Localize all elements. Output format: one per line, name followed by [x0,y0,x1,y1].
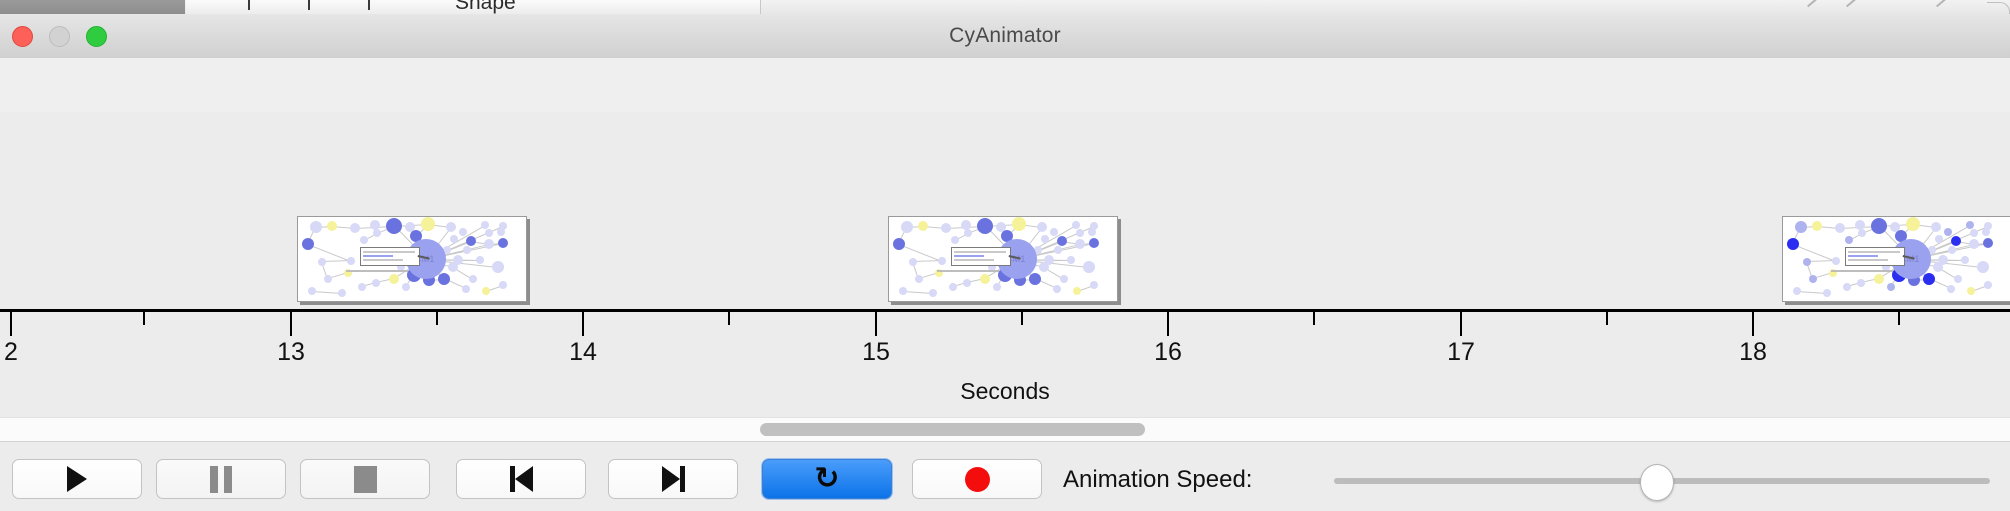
pause-icon [210,466,232,493]
graph-caption-line [937,270,999,272]
graph-node [1944,228,1952,236]
graph-node [1969,239,1979,249]
graph-node [1983,238,1993,248]
axis-tick-minor [728,312,730,325]
record-button[interactable] [912,459,1042,499]
graph-node [1951,236,1961,246]
graph-node [1858,229,1866,237]
graph-node [492,261,504,273]
graph-node [1977,261,1989,273]
graph-node [1906,217,1920,231]
graph-node [421,217,435,231]
graph-node [1054,246,1062,254]
loop-button[interactable]: ↻ [762,459,892,499]
graph-node [1835,223,1845,233]
graph-node [963,279,971,287]
graph-node [980,274,990,284]
graph-node [308,287,316,295]
axis-tick-major [875,312,877,336]
skip-forward-icon [662,466,685,492]
axis-tick-minor [1313,312,1315,325]
record-icon [965,467,990,492]
graph-node [1012,217,1026,231]
graph-node [450,235,458,243]
graph-node [302,238,314,250]
graph-node [977,218,993,234]
graph-node [1857,279,1865,287]
graph-caption-line [1831,270,1893,272]
timeline-frame-1[interactable]: MCM1 [297,216,527,302]
graph-node [1812,221,1822,231]
axis-tick-major [1460,312,1462,336]
stop-button[interactable] [300,459,430,499]
graph-node [1967,287,1975,295]
graph-node [1809,275,1817,283]
axis-tick-minor [1021,312,1023,325]
network-graph-thumbnail: MCM1 [1783,217,2010,301]
graph-node [485,229,493,237]
graph-node [1041,235,1049,243]
graph-node [1887,283,1895,291]
graph-tooltip-line [1848,251,1900,253]
graph-node [1966,221,1974,229]
graph-node [459,228,467,236]
axis-tick-label: 18 [1739,338,1767,367]
graph-tooltip-line [954,251,1006,253]
background-window-strip: Shape [0,0,2010,14]
graph-tooltip-line [954,255,984,257]
graph-node [310,221,322,233]
axis-tick-minor [1606,312,1608,325]
graph-node [1088,228,1096,236]
background-window-titlebar [0,0,185,14]
graph-node [438,273,450,285]
graph-node [899,287,907,295]
graph-node [1787,238,1799,250]
graph-node [1057,236,1067,246]
graph-node [469,275,477,283]
minimize-button[interactable] [49,26,70,47]
graph-node [1053,285,1061,293]
axis-tick-label: 16 [1154,338,1182,367]
graph-node [389,274,399,284]
graph-node [482,287,490,295]
graph-node [372,279,380,287]
graph-node [938,257,946,265]
graph-node [964,229,972,237]
skip-start-button[interactable] [456,459,586,499]
title-bar: CyAnimator [0,14,2010,59]
graph-node [373,229,381,237]
graph-node [941,223,951,233]
axis-tick-minor [143,312,145,325]
graph-node [1874,274,1884,284]
graph-node [1948,246,1956,254]
network-graph-thumbnail: MCM1 [889,217,1117,301]
graph-node [1933,262,1943,272]
graph-node [951,236,959,244]
graph-node [462,285,470,293]
play-button[interactable] [12,459,142,499]
axis-tick-label: 17 [1447,338,1475,367]
graph-node [1072,221,1080,229]
graph-node [498,238,508,248]
graph-node [1050,228,1058,236]
timeline-scrollbar[interactable] [0,417,2010,442]
graph-node [402,283,410,291]
network-graph-thumbnail: MCM1 [298,217,526,301]
timeline-axis: 2131415161718 Seconds [0,300,2010,410]
graph-node [1075,239,1085,249]
graph-node [1073,287,1081,295]
graph-node [1843,283,1851,291]
graph-node [1961,256,1969,264]
graph-tooltip-line [1848,259,1888,261]
graph-node [1060,275,1068,283]
axis-tick-minor [436,312,438,325]
graph-node [324,275,332,283]
graph-node [481,221,489,229]
axis-tick-label: 15 [862,338,890,367]
graph-node [448,262,458,272]
skip-end-button[interactable] [608,459,738,499]
axis-tick-label: 14 [569,338,597,367]
graph-node [1947,285,1955,293]
graph-node [358,283,366,291]
axis-tick-major [290,312,292,336]
graph-node [1067,256,1075,264]
scrollbar-thumb[interactable] [760,423,1145,436]
animation-speed-label: Animation Speed: [1063,466,1252,494]
frame-toolbar: Clear All Frames [0,58,2010,113]
cyanimator-window: Shape CyAnimator Clear All Frames [0,0,2010,510]
graph-node [347,257,355,265]
axis-line [0,309,2010,312]
axis-tick-label: 13 [277,338,305,367]
timeline-frame-2[interactable]: MCM1 [888,216,1118,302]
graph-node [901,221,913,233]
axis-tick-major [1752,312,1754,336]
graph-node [386,218,402,234]
graph-tooltip-line [363,255,393,257]
graph-node [918,221,928,231]
axis-tick-major [1167,312,1169,336]
axis-title: Seconds [0,378,2010,405]
axis-tick-major [10,312,12,336]
graph-node [338,289,346,297]
graph-node [497,228,505,236]
graph-node [1083,261,1095,273]
graph-tooltip-line [954,259,994,261]
graph-node [499,281,507,289]
graph-caption-line [346,270,408,272]
graph-node [993,283,1001,291]
graph-node [466,236,476,246]
graph-node [1089,238,1099,248]
graph-node [1984,281,1992,289]
background-window-label: Shape [455,0,516,14]
graph-node [1970,229,1978,237]
skip-back-icon [510,466,533,492]
graph-node [1803,258,1811,266]
graph-node [1931,222,1941,232]
graph-node [1923,273,1935,285]
graph-node [929,289,937,297]
graph-node [1871,218,1887,234]
zoom-button[interactable] [86,26,107,47]
graph-node [1982,228,1990,236]
graph-node [1795,221,1807,233]
graph-node [949,283,957,291]
graph-tooltip-line [1848,255,1878,257]
graph-node [1935,235,1943,243]
pause-button[interactable] [156,459,286,499]
graph-node [1845,236,1853,244]
graph-node [484,239,494,249]
graph-node [1076,229,1084,237]
axis-tick-label: 2 [4,338,18,367]
graph-node [476,256,484,264]
graph-node [909,258,917,266]
graph-node [360,236,368,244]
graph-node [1037,222,1047,232]
graph-node [318,258,326,266]
loop-icon: ↻ [814,464,839,494]
graph-node [1954,275,1962,283]
graph-node [446,222,456,232]
graph-node [1823,289,1831,297]
axis-tick-major [582,312,584,336]
graph-tooltip-line [363,259,403,261]
graph-node [463,246,471,254]
graph-node [915,275,923,283]
graph-node [1029,273,1041,285]
stop-icon [354,466,377,493]
timeline-frame-3[interactable]: MCM1 [1782,216,2010,302]
axis-tick-minor [1898,312,1900,325]
window-title: CyAnimator [949,24,1061,48]
graph-node [893,238,905,250]
play-icon [67,466,87,492]
graph-node [327,221,337,231]
graph-node [1090,281,1098,289]
graph-node [350,223,360,233]
graph-node [1039,262,1049,272]
graph-node [1832,257,1840,265]
close-button[interactable] [12,26,33,47]
graph-tooltip-line [363,251,415,253]
traffic-lights [12,26,107,47]
graph-node [1793,287,1801,295]
animation-speed-slider-knob[interactable] [1640,464,1674,501]
